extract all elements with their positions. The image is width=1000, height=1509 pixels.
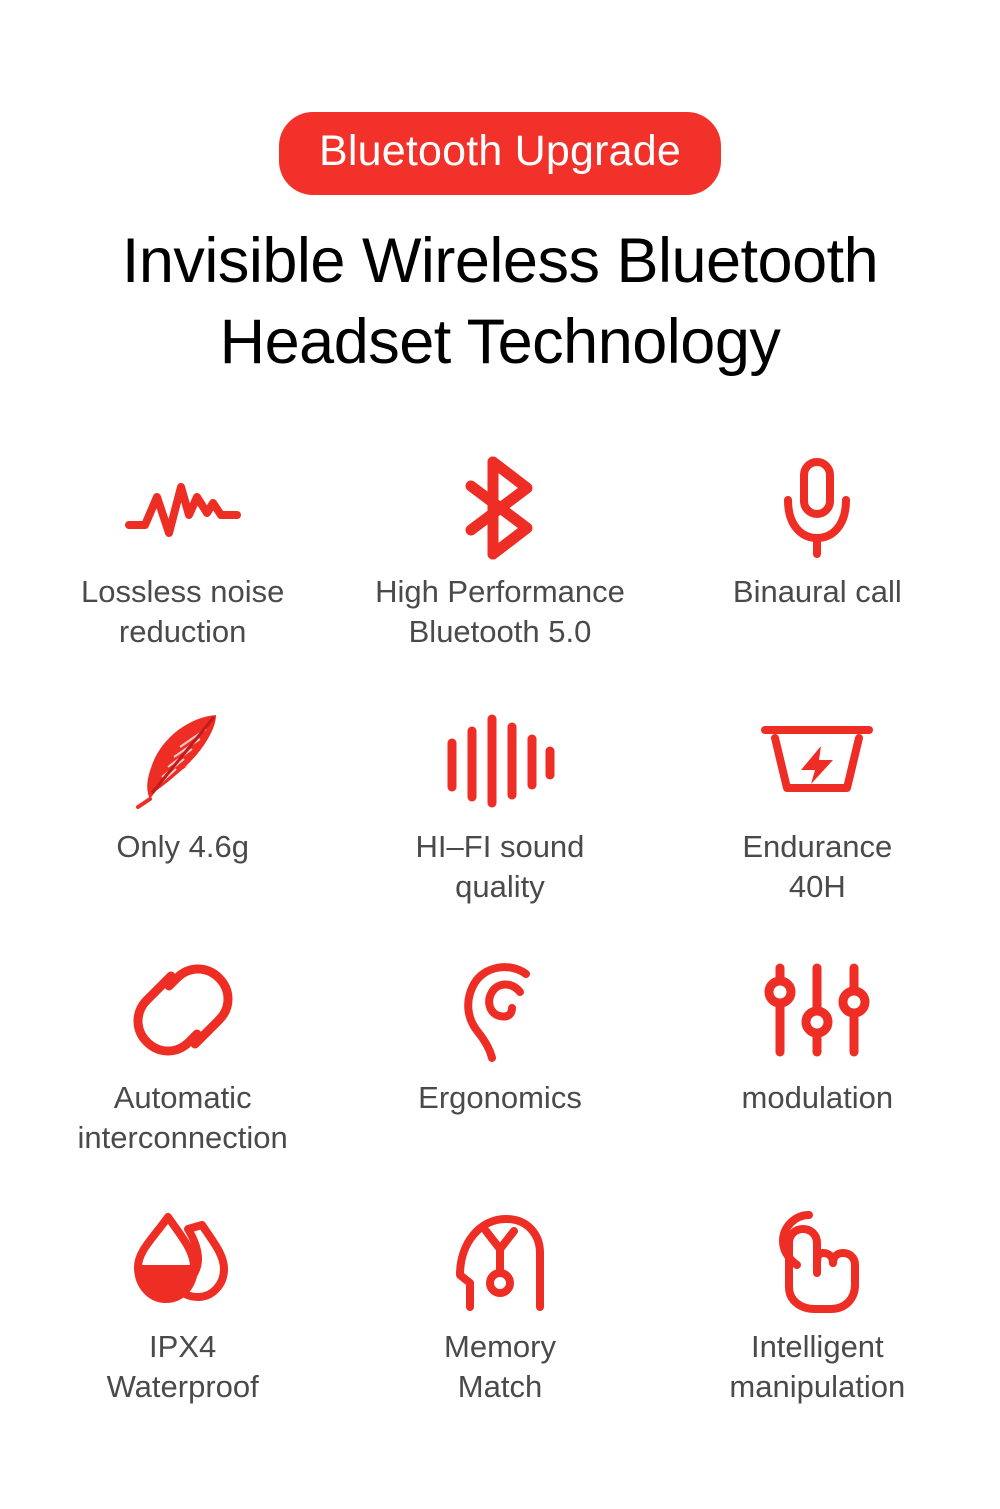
head-memory-icon [450,1209,550,1313]
promo-page: Bluetooth Upgrade Invisible Wireless Blu… [0,0,1000,1509]
feature-label: Memory Match [444,1327,556,1406]
feature-item: HI–FI sound quality [341,707,658,906]
feature-item: modulation [659,958,976,1118]
feature-grid: Lossless noise reduction High Performanc… [0,456,1000,1460]
feather-icon [128,707,238,811]
feature-item: Only 4.6g [24,707,341,867]
feature-item: Lossless noise reduction [24,456,341,651]
feature-item: Binaural call [659,456,976,612]
bluetooth-icon [455,456,545,560]
feature-item: Ergonomics [341,958,658,1118]
water-drops-icon [128,1209,238,1313]
feature-label: Intelligent manipulation [729,1327,905,1406]
feature-label: Automatic interconnection [78,1078,288,1157]
feature-label: HI–FI sound quality [416,827,585,906]
sliders-icon [762,958,872,1062]
feature-item: Endurance 40H [659,707,976,906]
sound-bars-icon [440,707,560,811]
feature-label: Lossless noise reduction [81,572,284,651]
ear-icon [454,958,546,1062]
feature-item: Automatic interconnection [24,958,341,1157]
status-badge: Bluetooth Upgrade [279,112,721,195]
feature-item: Memory Match [341,1209,658,1406]
feature-item: High Performance Bluetooth 5.0 [341,456,658,651]
touch-hand-icon [769,1209,865,1313]
chain-link-icon [131,958,235,1062]
page-title-line-1: Invisible Wireless Bluetooth [122,226,878,296]
page-title: Invisible Wireless Bluetooth Headset Tec… [0,221,1000,382]
feature-label: modulation [742,1078,894,1118]
feature-label: High Performance Bluetooth 5.0 [375,572,625,651]
battery-charge-icon [757,707,877,811]
page-title-line-2: Headset Technology [30,302,970,383]
badge-container: Bluetooth Upgrade [0,0,1000,195]
waveform-noise-icon [123,456,243,560]
feature-label: IPX4 Waterproof [107,1327,259,1406]
feature-label: Binaural call [733,572,902,612]
feature-label: Ergonomics [418,1078,582,1118]
feature-label: Only 4.6g [116,827,249,867]
feature-label: Endurance 40H [742,827,892,906]
feature-item: IPX4 Waterproof [24,1209,341,1406]
microphone-icon [774,456,860,560]
feature-item: Intelligent manipulation [659,1209,976,1406]
